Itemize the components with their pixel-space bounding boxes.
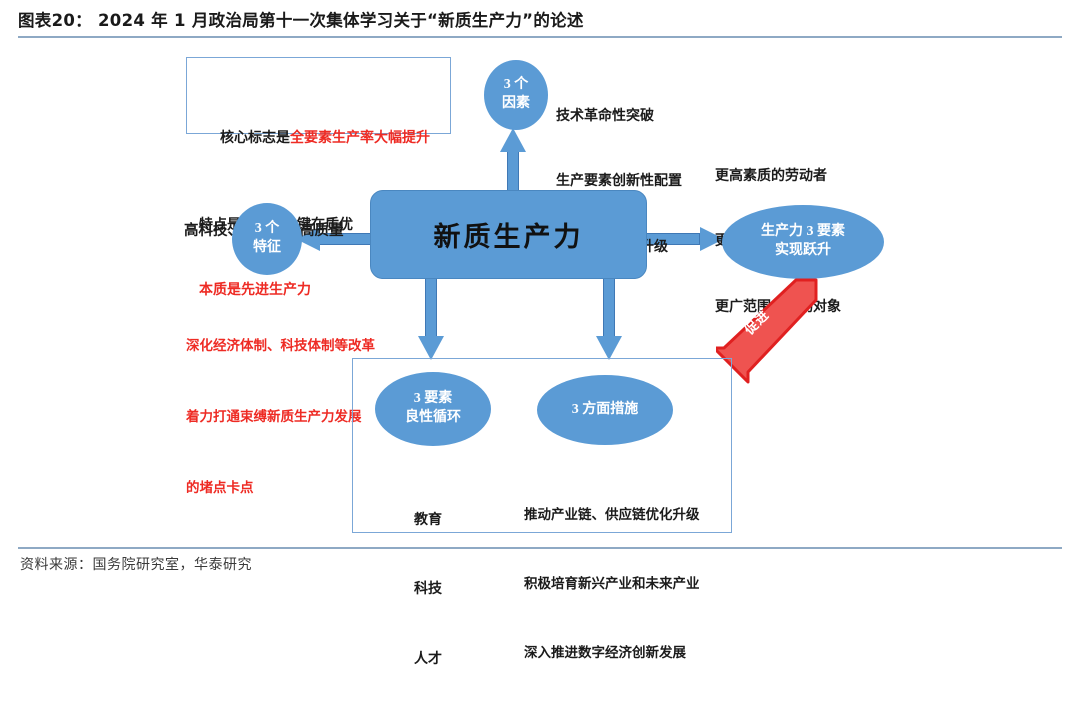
reform-note: 深化经济体制、科技体制等改革 着力打通束缚新质生产力发展 的堵点卡点 [186, 287, 375, 547]
node-three-factors-line1: 3 个 [504, 76, 529, 95]
node-three-measures-line1: 3 方面措施 [572, 401, 639, 420]
core-note-line1-highlight: 全要素生产率大幅提升 [290, 131, 430, 146]
figure-source: 资料来源：国务院研究室，华泰研究 [20, 554, 252, 574]
node-three-features[interactable]: 3 个 特征 [232, 203, 302, 275]
node-productivity-line1: 生产力 3 要素 [761, 223, 845, 242]
node-productivity-three-elements[interactable]: 生产力 3 要素 实现跃升 [722, 205, 884, 279]
node-three-measures[interactable]: 3 方面措施 [537, 375, 673, 445]
promote-banner [716, 278, 826, 388]
reform-note-line-2: 的堵点卡点 [186, 476, 375, 500]
measures-list: 推动产业链、供应链优化升级 积极培育新兴产业和未来产业 深入推进数字经济创新发展 [524, 458, 700, 710]
node-three-elements-line1: 3 要素 [414, 390, 453, 409]
header-divider [18, 36, 1062, 38]
measures-list-item-0: 推动产业链、供应链优化升级 [524, 504, 700, 527]
node-three-elements-line2: 良性循环 [405, 409, 461, 428]
measures-list-item-1: 积极培育新兴产业和未来产业 [524, 573, 700, 596]
figure-title: 图表20： 2024 年 1 月政治局第十一次集体学习关于“新质生产力”的论述 [18, 7, 1062, 31]
labor-list-item-0: 更高素质的劳动者 [715, 166, 869, 188]
node-three-elements-virtuous-cycle[interactable]: 3 要素 良性循环 [375, 372, 491, 446]
elements-list-item-0: 教育 [414, 509, 442, 532]
node-three-features-line1: 3 个 [255, 220, 280, 239]
node-three-features-line2: 特征 [253, 239, 281, 258]
measures-list-item-2: 深入推进数字经济创新发展 [524, 642, 700, 665]
elements-list-item-2: 人才 [414, 648, 442, 671]
node-center-new-quality-productivity[interactable]: 新质生产力 [370, 190, 647, 279]
reform-note-line-1: 着力打通束缚新质生产力发展 [186, 405, 375, 429]
footer-divider [18, 547, 1062, 549]
node-three-factors-line2: 因素 [502, 95, 530, 114]
node-center-label: 新质生产力 [434, 215, 584, 254]
figure-canvas: 图表20： 2024 年 1 月政治局第十一次集体学习关于“新质生产力”的论述 … [0, 0, 1080, 583]
elements-list: 教育 科技 人才 [414, 463, 442, 717]
elements-list-item-1: 科技 [414, 578, 442, 601]
node-productivity-line2: 实现跃升 [775, 242, 831, 261]
factors-list-item-0: 技术革命性突破 [556, 106, 682, 128]
node-three-factors[interactable]: 3 个 因素 [484, 60, 548, 130]
core-note-line1-prefix: 核心标志是 [220, 131, 290, 146]
reform-note-line-0: 深化经济体制、科技体制等改革 [186, 334, 375, 358]
arrow-center-to-factors [500, 128, 526, 194]
